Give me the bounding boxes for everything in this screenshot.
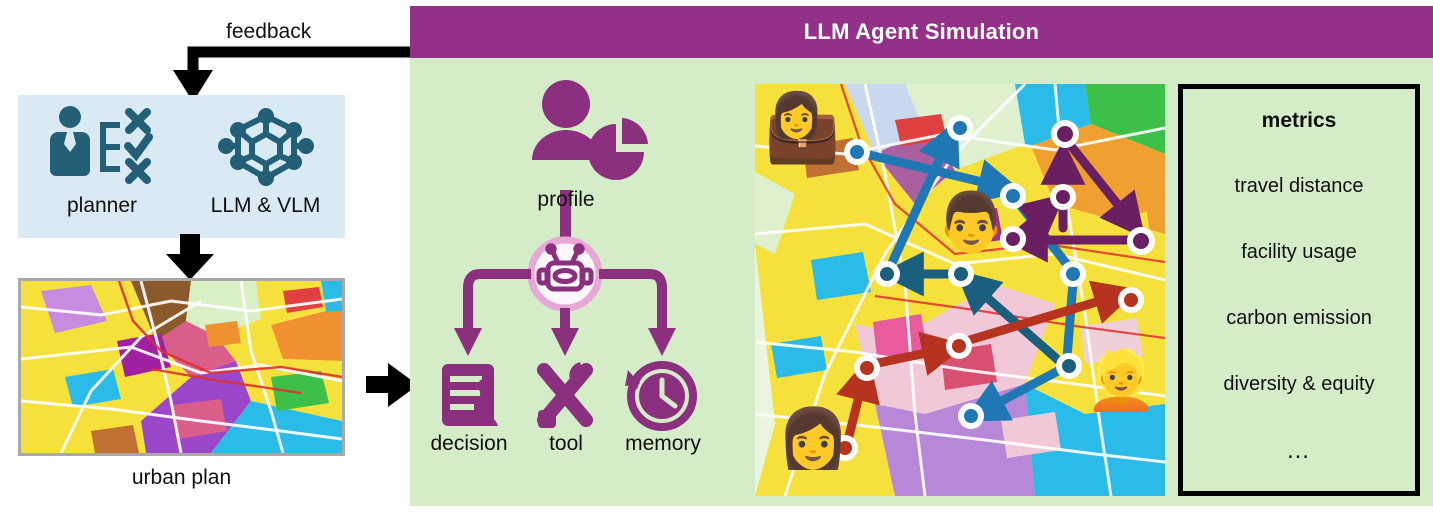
profile-icon [532, 80, 648, 180]
urban-plan-label: urban plan [18, 466, 345, 490]
feedback-arrow [170, 12, 420, 107]
metric-item: travel distance [1183, 175, 1415, 198]
simulation-title: LLM Agent Simulation [804, 19, 1039, 45]
metrics-title: metrics [1183, 109, 1415, 133]
metric-item: facility usage [1183, 241, 1415, 264]
businesswoman-agent-face: 👩 [769, 94, 824, 138]
planner-label: planner [67, 195, 137, 216]
metrics-panel: metrics travel distance facility usage c… [1178, 84, 1420, 496]
businessman-agent: 👨 [935, 194, 1007, 252]
llm-vlm-label: LLM & VLM [211, 195, 321, 216]
clock-history-icon [625, 365, 693, 427]
simulation-panel: LLM Agent Simulation [410, 6, 1433, 506]
metric-item: diversity & equity [1183, 373, 1415, 396]
simulation-header: LLM Agent Simulation [410, 6, 1433, 58]
worker-agent: 👩 [777, 410, 849, 468]
decision-document-icon [442, 364, 498, 426]
urban-plan-map [18, 278, 345, 456]
profile-label: profile [506, 188, 626, 212]
city-simulation-map: 💼 👩 👨 👱 👩 [755, 84, 1165, 496]
planner-box: planner [18, 95, 345, 238]
network-graph-icon [220, 101, 312, 193]
metric-item: carbon emission [1183, 307, 1415, 330]
planner-person-checklist-icon [48, 101, 156, 193]
decision-label: decision [420, 432, 518, 456]
agent-architecture: profile decision tool memory [420, 64, 750, 494]
metric-item-ellipsis: … [1183, 437, 1415, 465]
memory-label: memory [608, 432, 718, 456]
student-agent: 👱 [1085, 352, 1157, 410]
planner-to-plan-arrow [162, 234, 218, 282]
figure-root: feedback [0, 0, 1433, 512]
tool-label: tool [518, 432, 614, 456]
